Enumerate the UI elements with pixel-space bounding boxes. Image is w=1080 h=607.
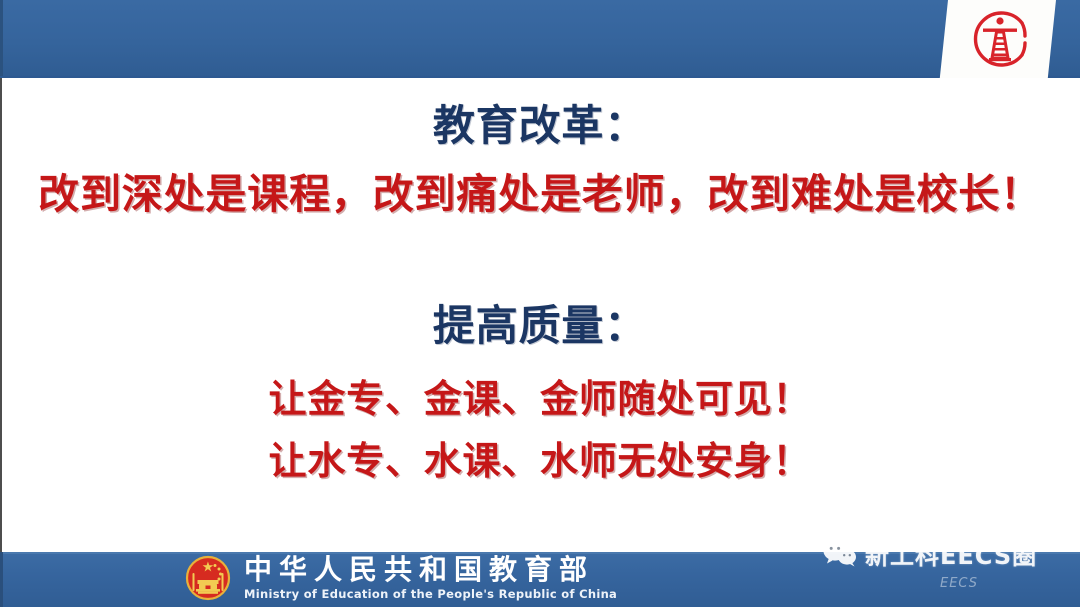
china-national-emblem-icon [184, 554, 232, 602]
ministry-lockup: 中华人民共和国教育部 Ministry of Education of the … [184, 554, 617, 602]
ministry-name-en: Ministry of Education of the People's Re… [244, 587, 617, 601]
header-band-gradient [0, 0, 1080, 78]
ministry-text: 中华人民共和国教育部 Ministry of Education of the … [244, 555, 617, 600]
quality-statement-gold: 让金专、金课、金师随处可见！ [0, 368, 1080, 423]
education-reform-statement: 改到深处是课程，改到痛处是老师，改到难处是校长！ [0, 160, 1080, 220]
education-reform-heading: 教育改革： [0, 92, 1080, 153]
quality-improvement-heading: 提高质量： [0, 292, 1080, 353]
header-band [0, 0, 1080, 78]
university-tower-emblem-icon [966, 5, 1034, 73]
slide-canvas: 教育改革： 改到深处是课程，改到痛处是老师，改到难处是校长！ 提高质量： 让金专… [0, 0, 1080, 607]
ministry-name-cn: 中华人民共和国教育部 [244, 555, 617, 584]
watermark-ghost-text: EECS [940, 576, 978, 591]
quality-statement-water: 让水专、水课、水师无处安身！ [0, 430, 1080, 485]
footer-left-edge [0, 552, 3, 607]
wechat-account-name: 新工科EECS圈 [865, 536, 1037, 571]
wechat-watermark: 新工科EECS圈 [823, 536, 1037, 571]
header-left-edge [0, 0, 3, 78]
wechat-icon [823, 540, 857, 567]
